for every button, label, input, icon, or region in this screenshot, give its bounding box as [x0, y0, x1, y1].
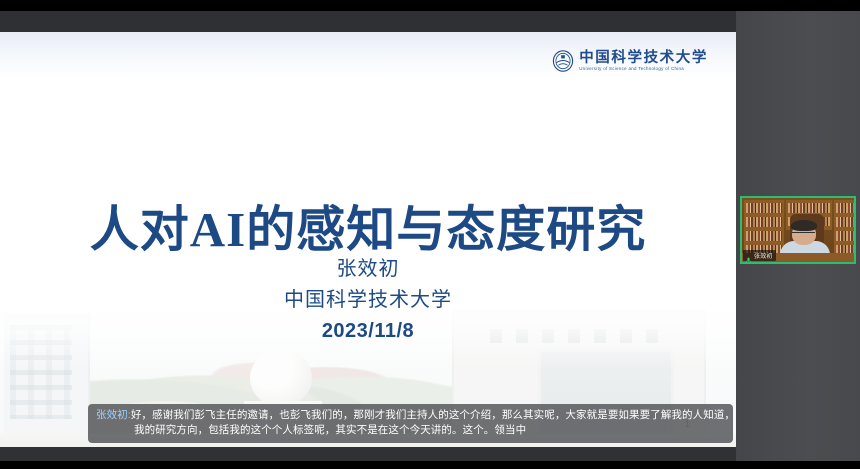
caption-overlay: 张效初:好，感谢我们彭飞主任的邀请，也彭飞我们的，那刚才我们主持人的这个介绍，那…: [88, 404, 733, 443]
shared-screen-stage[interactable]: 中国科学技术大学 University of Science and Techn…: [0, 32, 736, 447]
participant-name-badge: 张效初: [743, 250, 776, 261]
meeting-window: 中国科学技术大学 University of Science and Techn…: [0, 0, 860, 469]
caption-line-1: 张效初:好，感谢我们彭飞主任的邀请，也彭飞我们的，那刚才我们主持人的这个介绍，那…: [96, 408, 725, 423]
app-chrome-top-strip: [0, 11, 736, 32]
microphone-icon: [745, 252, 752, 260]
slide-presenter-name: 张效初: [0, 254, 736, 285]
bottom-letterbox-band: [0, 461, 860, 469]
slide-date: 2023/11/8: [0, 316, 736, 347]
participant-panel[interactable]: 张效初: [736, 11, 860, 461]
participant-video-tile[interactable]: 张效初: [740, 196, 856, 264]
caption-speaker-label: 张效初:: [96, 409, 131, 421]
slide-title: 人对AI的感知与态度研究: [0, 190, 736, 261]
ustc-logo-chinese: 中国科学技术大学: [579, 51, 708, 66]
participant-name: 张效初: [754, 251, 773, 260]
caption-line-2: 我的研究方向，包括我的这个个人标签呢，其实不是在这个今天讲的。这个。领当中: [96, 423, 725, 438]
ustc-seal-icon: [552, 50, 574, 72]
ustc-logo-english: University of Science and Technology of …: [579, 67, 708, 72]
top-letterbox-band: [0, 0, 860, 11]
app-chrome-bottom-strip: [0, 447, 736, 461]
slide-subtitle-block: 张效初 中国科学技术大学 2023/11/8: [0, 254, 736, 347]
caption-panel-mask: [736, 400, 860, 448]
caption-text-1: 好，感谢我们彭飞主任的邀请，也彭飞我们的，那刚才我们主持人的这个介绍，那么其实呢…: [131, 409, 756, 421]
ustc-logo: 中国科学技术大学 University of Science and Techn…: [552, 50, 708, 72]
slide-affiliation: 中国科学技术大学: [0, 285, 736, 316]
